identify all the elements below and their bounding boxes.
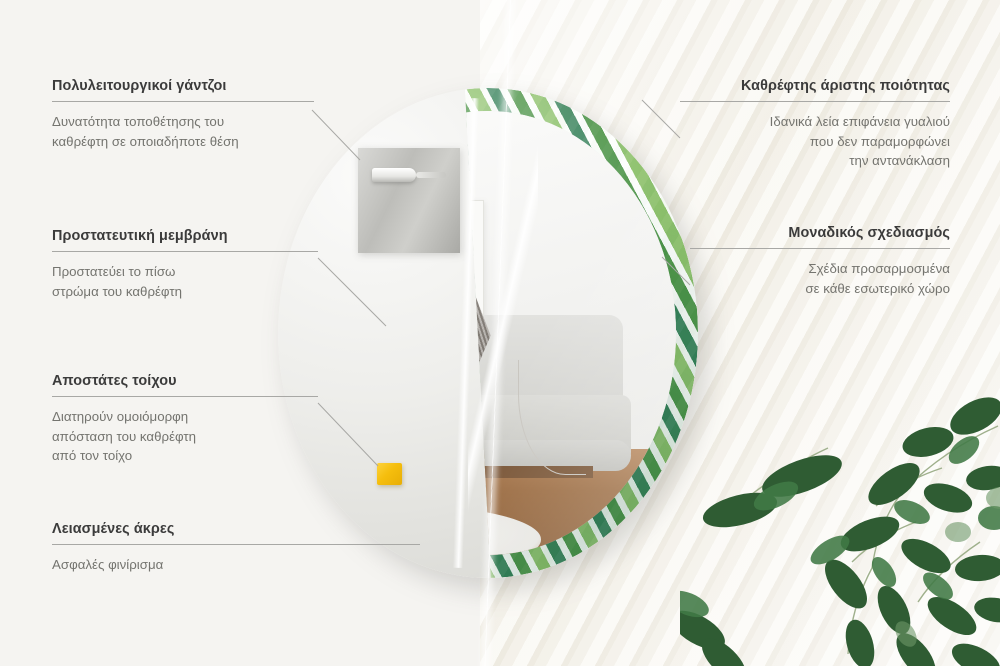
- callout-title: Αποστάτες τοίχου: [52, 373, 318, 389]
- wall-spacer-pad[interactable]: [377, 463, 402, 485]
- multifunctional-hook-plate[interactable]: [358, 148, 460, 253]
- callout-description: Δυνατότητα τοποθέτησης του καθρέφτη σε ο…: [52, 112, 314, 151]
- desc-line: σε κάθε εσωτερικό χώρο: [690, 279, 950, 299]
- callout-description: Σχέδια προσαρμοσμένα σε κάθε εσωτερικό χ…: [690, 259, 950, 298]
- callout-protective-membrane[interactable]: Προστατευτική μεμβράνη Προστατεύει το πί…: [52, 228, 318, 301]
- callout-title: Πολυλειτουργικοί γάντζοι: [52, 78, 314, 94]
- callout-description: Προστατεύει το πίσω στρώμα του καθρέφτη: [52, 262, 318, 301]
- desc-line: Ασφαλές φινίρισμα: [52, 555, 420, 575]
- callout-divider: [52, 544, 420, 545]
- callout-title: Προστατευτική μεμβράνη: [52, 228, 318, 244]
- desc-line: Προστατεύει το πίσω: [52, 262, 318, 282]
- desc-line: Δυνατότητα τοποθέτησης του: [52, 112, 314, 132]
- callout-description: Ιδανικά λεία επιφάνεια γυαλιού που δεν π…: [680, 112, 950, 171]
- callout-divider: [690, 248, 950, 249]
- callout-description: Ασφαλές φινίρισμα: [52, 555, 420, 575]
- infographic-canvas: Πολυλειτουργικοί γάντζοι Δυνατότητα τοπο…: [0, 0, 1000, 666]
- hook-bracket-icon: [372, 168, 416, 182]
- callout-divider: [52, 396, 318, 397]
- desc-line: από τον τοίχο: [52, 446, 318, 466]
- callout-wall-spacers[interactable]: Αποστάτες τοίχου Διατηρούν ομοιόμορφη απ…: [52, 373, 318, 466]
- desc-line: Διατηρούν ομοιόμορφη: [52, 407, 318, 427]
- callout-title: Καθρέφτης άριστης ποιότητας: [680, 78, 950, 94]
- callout-multifunctional-hooks[interactable]: Πολυλειτουργικοί γάντζοι Δυνατότητα τοπο…: [52, 78, 314, 151]
- callout-title: Λειασμένες άκρες: [52, 521, 420, 537]
- desc-line: Ιδανικά λεία επιφάνεια γυαλιού: [680, 112, 950, 132]
- desc-line: που δεν παραμορφώνει: [680, 132, 950, 152]
- hook-slot-icon: [416, 172, 446, 178]
- callout-description: Διατηρούν ομοιόμορφη απόσταση του καθρέφ…: [52, 407, 318, 466]
- callout-smoothed-edges[interactable]: Λειασμένες άκρες Ασφαλές φινίρισμα: [52, 521, 420, 575]
- mirror-body: [278, 88, 698, 578]
- plant-leaves-illustration: [680, 372, 1000, 666]
- callout-divider: [52, 101, 314, 102]
- desc-line: απόσταση του καθρέφτη: [52, 427, 318, 447]
- desc-line: καθρέφτη σε οποιαδήποτε θέση: [52, 132, 314, 152]
- callout-divider: [680, 101, 950, 102]
- mirror-product[interactable]: [278, 88, 698, 578]
- foreground-plant: [680, 372, 1000, 666]
- callout-top-quality-mirror[interactable]: Καθρέφτης άριστης ποιότητας Ιδανικά λεία…: [680, 78, 950, 171]
- callout-unique-design[interactable]: Μοναδικός σχεδιασμός Σχέδια προσαρμοσμέν…: [690, 225, 950, 298]
- desc-line: στρώμα του καθρέφτη: [52, 282, 318, 302]
- callout-divider: [52, 251, 318, 252]
- callout-title: Μοναδικός σχεδιασμός: [690, 225, 950, 241]
- desc-line: Σχέδια προσαρμοσμένα: [690, 259, 950, 279]
- desc-line: την αντανάκλαση: [680, 151, 950, 171]
